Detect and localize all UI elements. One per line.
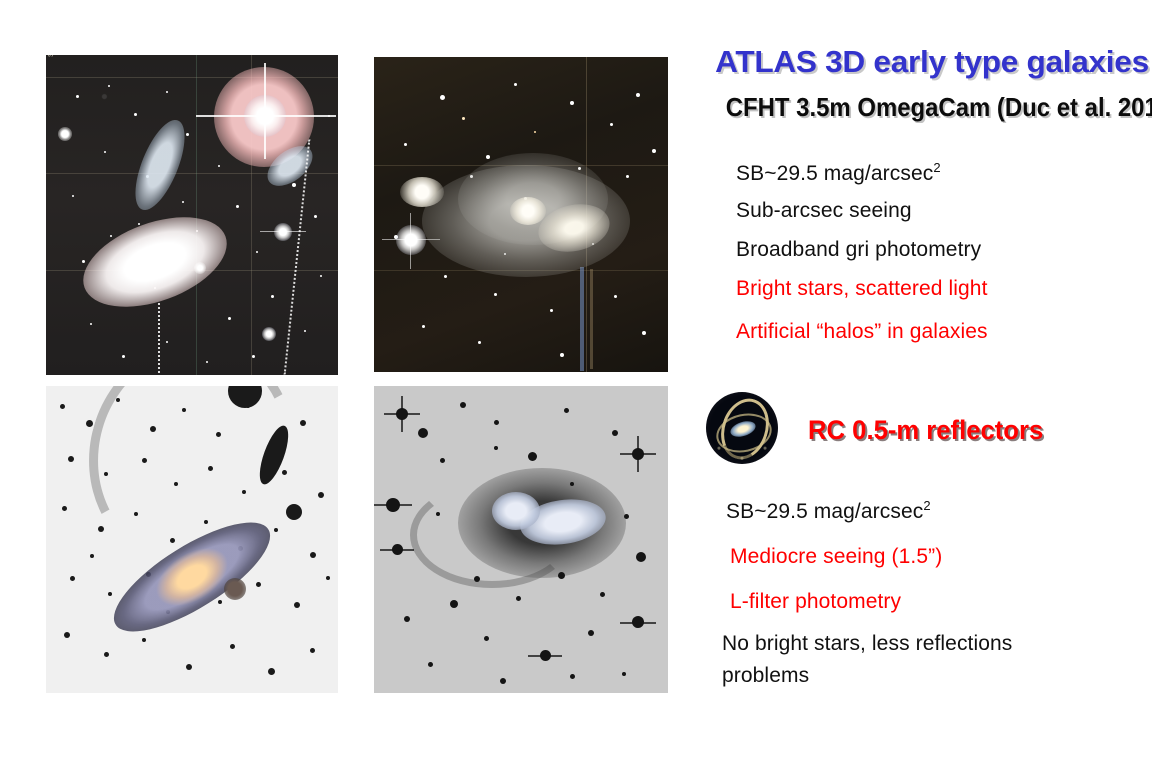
bullet-top-1: Sub-arcsec seeing bbox=[736, 199, 912, 223]
bullet-bottom-4: problems bbox=[722, 664, 809, 688]
bullet-bottom-2: L-filter photometry bbox=[730, 590, 901, 614]
slide-root: SVS bbox=[0, 0, 1152, 758]
foreground-star-bright bbox=[396, 225, 426, 255]
rc-heading: RC 0.5-m reflectors bbox=[808, 415, 1043, 446]
star-field-inverted bbox=[46, 386, 338, 693]
bullet-top-0: SB~29.5 mag/arcsec2 bbox=[736, 160, 941, 186]
bullet-bottom-3: No bright stars, less reflections bbox=[722, 632, 1012, 656]
figure-rc-reflector-edge-on-spiral-stream bbox=[46, 386, 338, 693]
dotted-trace-left bbox=[158, 303, 160, 375]
galaxy-nucleus-left bbox=[510, 197, 546, 225]
bullet-top-2: Broadband gri photometry bbox=[736, 238, 981, 262]
bullet-top-4: Artificial “halos” in galaxies bbox=[736, 320, 988, 344]
atlas-heading: ATLAS 3D early type galaxies bbox=[708, 44, 1152, 80]
image-corner-label: SVS bbox=[48, 55, 55, 57]
figure-cfht-deep-image-edge-on-galaxy: SVS bbox=[46, 55, 338, 375]
text-column: ATLAS 3D early type galaxies CFHT 3.5m O… bbox=[700, 0, 1152, 758]
companion-blob bbox=[224, 578, 246, 600]
figure-cfht-deep-image-merging-pair bbox=[374, 57, 668, 372]
star-field-inverted bbox=[374, 386, 668, 693]
figure-rc-reflector-interacting-pair bbox=[374, 386, 668, 693]
bullet-bottom-0: SB~29.5 mag/arcsec2 bbox=[726, 498, 931, 524]
cfht-subheading: CFHT 3.5m OmegaCam (Duc et al. 2015) bbox=[726, 92, 1134, 123]
bullet-top-3: Bright stars, scattered light bbox=[736, 277, 988, 301]
stellar-tidal-streams-survey-logo-icon bbox=[706, 392, 778, 464]
bullet-bottom-1: Mediocre seeing (1.5”) bbox=[730, 545, 942, 569]
